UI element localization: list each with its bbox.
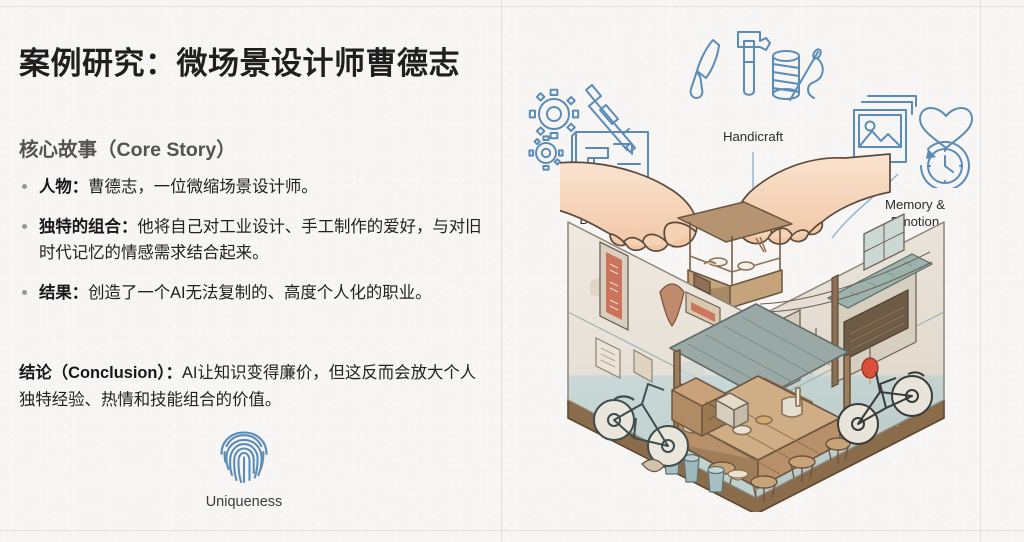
bottom-divider xyxy=(0,530,1024,531)
list-item: 独特的组合：他将自己对工业设计、手工制作的爱好，与对旧时代记忆的情感需求结合起来… xyxy=(19,214,489,267)
top-divider xyxy=(0,6,1024,7)
uniqueness-badge: Uniqueness xyxy=(174,428,314,510)
section-heading: 核心故事（Core Story） xyxy=(19,133,236,162)
post-right xyxy=(832,275,838,387)
slide-canvas: 案例研究：微场景设计师曹德志 核心故事（Core Story） 人物：曹德志，一… xyxy=(0,0,1024,542)
bullet-dot-icon xyxy=(22,184,27,189)
concept-label: Handicraft xyxy=(678,129,828,146)
small-gear-icon xyxy=(529,136,562,169)
craft-knife-icon xyxy=(691,40,719,98)
bullet-lead: 人物： xyxy=(39,178,88,196)
bullet-dot-icon xyxy=(22,224,27,229)
uniqueness-label: Uniqueness xyxy=(174,494,314,510)
hammer-icon xyxy=(738,32,770,95)
left-text-panel: 案例研究：微场景设计师曹德志 核心故事（Core Story） 人物：曹德志，一… xyxy=(0,0,501,542)
conclusion-paragraph: 结论（Conclusion）：AI让知识变得廉价，但这反而会放大个人独特经验、热… xyxy=(19,360,487,414)
bullet-list: 人物：曹德志，一位微缩场景设计师。 独特的组合：他将自己对工业设计、手工制作的爱… xyxy=(19,174,489,319)
list-item: 人物：曹德志，一位微缩场景设计师。 xyxy=(19,174,489,201)
conclusion-lead: 结论（Conclusion）： xyxy=(19,364,182,382)
bullet-lead: 独特的组合： xyxy=(39,218,137,236)
shop-sign-left xyxy=(600,242,628,330)
handicraft-icons xyxy=(678,22,828,120)
bullet-lead: 结果： xyxy=(39,284,88,302)
caliper-icon xyxy=(586,85,635,152)
bottle xyxy=(796,388,800,406)
concept-handicraft: Handicraft xyxy=(678,22,828,146)
right-illustration-panel: Industrial Design xyxy=(502,0,980,542)
center-divider xyxy=(501,0,502,542)
bullet-text: 曹德志，一位微缩场景设计师。 xyxy=(88,178,317,196)
list-item: 结果：创造了一个AI无法复制的、高度个人化的职业。 xyxy=(19,280,489,307)
needle-icon xyxy=(790,48,823,100)
fingerprint-icon xyxy=(215,428,273,490)
miniature-diorama-illustration xyxy=(560,152,950,512)
gear-icon xyxy=(530,90,578,138)
right-divider xyxy=(980,0,981,542)
bullet-dot-icon xyxy=(22,290,27,295)
page-title: 案例研究：微场景设计师曹德志 xyxy=(19,38,460,83)
bullet-text: 创造了一个AI无法复制的、高度个人化的职业。 xyxy=(88,284,431,302)
